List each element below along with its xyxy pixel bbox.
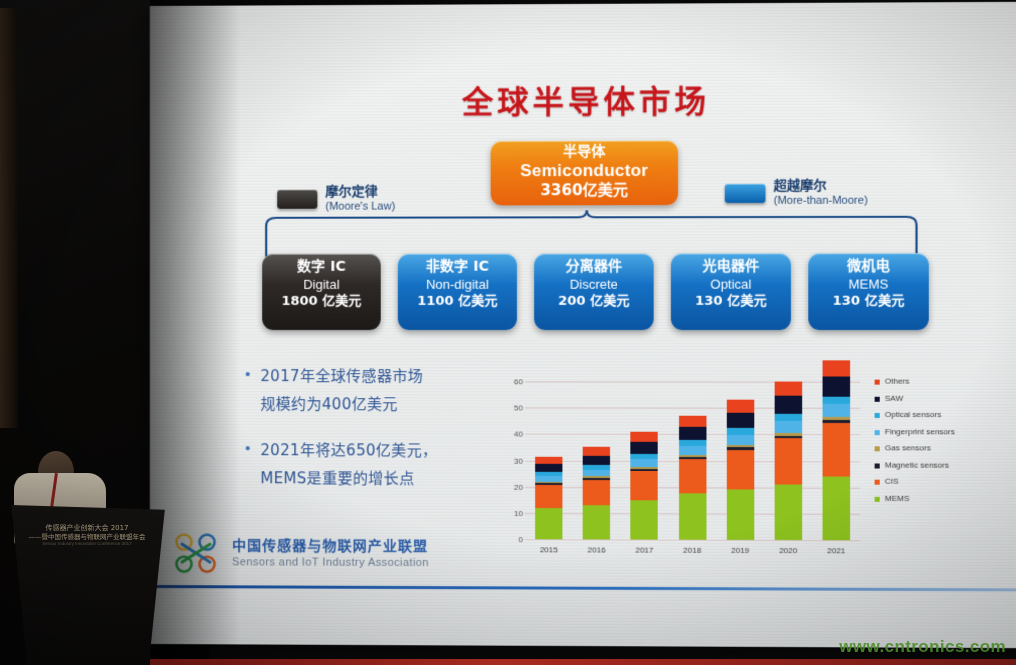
bullet-line: MEMS是重要的增长点 xyxy=(260,464,437,492)
sensor-market-chart: 0102030405060201520162017201820192020202… xyxy=(497,362,996,570)
chart-bar-segment xyxy=(535,464,562,472)
category-boxes: 数字 IC Digital 1800 亿美元 非数字 IC Non-digita… xyxy=(262,253,931,336)
category-box-digital: 数字 IC Digital 1800 亿美元 xyxy=(262,254,381,330)
wall-edge xyxy=(0,8,18,428)
legend-swatch-icon xyxy=(875,380,880,385)
chart-legend-item: CIS xyxy=(875,477,993,487)
y-axis-tick: 50 xyxy=(503,404,523,413)
legend-label: MEMS xyxy=(885,493,910,503)
slide-content: 全球半导体市场 半导体 Semiconductor 3360亿美元 摩尔定律 (… xyxy=(150,28,1016,616)
chart-bar xyxy=(774,382,802,540)
category-value: 1800 亿美元 xyxy=(262,293,381,310)
bullet-dot-icon: • xyxy=(245,436,250,492)
chart-legend-item: SAW xyxy=(875,393,993,403)
list-item: • 2021年将达650亿美元， MEMS是重要的增长点 xyxy=(245,436,507,493)
legend-label: Gas sensors xyxy=(885,443,931,453)
x-axis-label: 2017 xyxy=(624,546,665,555)
category-cn: 微机电 xyxy=(808,257,929,275)
y-axis-tick: 0 xyxy=(503,535,523,544)
category-box-optical: 光电器件 Optical 130 亿美元 xyxy=(671,253,791,330)
chart-bar-segment xyxy=(679,427,706,440)
chart-bar-segment xyxy=(535,485,562,507)
podium-line-1: 传感器产业创新大会 2017 xyxy=(22,524,152,533)
semiconductor-box-en: Semiconductor xyxy=(491,161,678,182)
category-cn: 分离器件 xyxy=(534,257,654,275)
legend-label: CIS xyxy=(885,477,899,487)
x-axis-label: 2018 xyxy=(672,546,713,555)
legend-moores-law-cn: 摩尔定律 xyxy=(325,184,395,199)
y-axis-tick: 40 xyxy=(503,430,523,439)
chart-bar-segment xyxy=(631,500,658,540)
chart-bar xyxy=(583,447,610,540)
chart-bar-segment xyxy=(679,416,706,427)
podium-line-3: Sensor Industry Innovation Conference 20… xyxy=(22,541,152,547)
category-cn: 非数字 IC xyxy=(398,258,517,276)
footer-cn: 中国传感器与物联网产业联盟 xyxy=(232,538,429,556)
category-box-discrete: 分离器件 Discrete 200 亿美元 xyxy=(534,253,654,330)
chart-legend-item: Others xyxy=(875,377,993,387)
category-value: 200 亿美元 xyxy=(534,293,654,310)
legend-label: Fingerprint sensors xyxy=(885,427,955,437)
chart-bar-segment xyxy=(631,442,658,454)
chart-bar-segment xyxy=(822,404,850,418)
swatch-moores-law-icon xyxy=(277,190,317,209)
legend-label: Optical sensors xyxy=(885,410,941,420)
semiconductor-box-cn: 半导体 xyxy=(491,144,678,162)
category-cn: 数字 IC xyxy=(262,258,381,276)
legend-more-than-moore-en: (More-than-Moore) xyxy=(774,194,868,208)
chart-bar-segment xyxy=(774,485,802,541)
chart-bar-segment xyxy=(822,376,850,396)
bullet-line: 规模约为400亿美元 xyxy=(260,390,423,418)
chart-bar-segment xyxy=(631,459,658,467)
chart-legend-item: Optical sensors xyxy=(875,410,993,420)
category-value: 130 亿美元 xyxy=(671,293,791,310)
chart-bar-segment xyxy=(679,459,706,493)
legend-label: Magnetic sensors xyxy=(885,460,949,470)
category-en: Optical xyxy=(671,276,791,293)
semiconductor-box: 半导体 Semiconductor 3360亿美元 xyxy=(491,141,678,206)
y-axis-tick: 60 xyxy=(503,377,523,386)
chart-bar-segment xyxy=(583,480,610,505)
podium-signage: 传感器产业创新大会 2017 ——暨中国传感器与物联网产业联盟年会 Sensor… xyxy=(22,524,152,547)
x-axis-label: 2020 xyxy=(768,546,809,555)
category-en: MEMS xyxy=(808,275,929,292)
bullet-line: 2017年全球传感器市场 xyxy=(260,362,423,390)
semiconductor-box-value: 3360亿美元 xyxy=(491,181,678,200)
legend-swatch-icon xyxy=(875,463,880,468)
chart-bar xyxy=(535,456,562,539)
category-box-mems: 微机电 MEMS 130 亿美元 xyxy=(808,253,929,330)
swatch-more-than-moore-icon xyxy=(725,184,766,203)
category-en: Digital xyxy=(262,276,381,293)
category-en: Non-digital xyxy=(398,276,517,293)
projection-screen: 全球半导体市场 半导体 Semiconductor 3360亿美元 摩尔定律 (… xyxy=(150,2,1016,648)
x-axis-label: 2015 xyxy=(529,545,569,554)
footer-rule xyxy=(150,585,1016,591)
chart-bar-segment xyxy=(726,435,753,446)
y-axis-tick: 10 xyxy=(503,509,523,518)
x-axis-label: 2016 xyxy=(576,545,617,554)
chart-gridline xyxy=(525,408,860,409)
chart-bar xyxy=(679,416,706,540)
chart-bar-segment xyxy=(631,471,658,500)
chart-bar-segment xyxy=(535,508,562,540)
bullet-text: 2021年将达650亿美元， MEMS是重要的增长点 xyxy=(260,436,437,493)
y-axis-tick: 20 xyxy=(503,483,523,492)
legend-more-than-moore: 超越摩尔 (More-than-Moore) xyxy=(725,178,868,208)
chart-bar xyxy=(726,400,753,540)
x-axis-label: 2019 xyxy=(720,546,761,555)
category-cn: 光电器件 xyxy=(671,257,791,275)
footer-en: Sensors and IoT Industry Association xyxy=(232,555,429,570)
speaker-area: 传感器产业创新大会 2017 ——暨中国传感器与物联网产业联盟年会 Sensor… xyxy=(0,375,200,665)
legend-swatch-icon xyxy=(875,446,880,451)
chart-plot-area: 0102030405060201520162017201820192020202… xyxy=(525,368,860,540)
x-axis-label: 2021 xyxy=(816,546,857,555)
chart-bar xyxy=(631,432,658,540)
bullet-list: • 2017年全球传感器市场 规模约为400亿美元 • 2021年将达650亿美… xyxy=(245,362,507,511)
chart-bar-segment xyxy=(631,432,658,442)
legend-swatch-icon xyxy=(875,396,880,401)
category-value: 130 亿美元 xyxy=(808,293,929,310)
chart-bar-segment xyxy=(774,396,802,415)
legend-more-than-moore-cn: 超越摩尔 xyxy=(774,178,868,193)
chart-legend-item: MEMS xyxy=(875,493,993,503)
chart-bar-segment xyxy=(726,412,753,428)
chart-bar-segment xyxy=(774,438,802,484)
bottom-red-bar xyxy=(150,659,1016,665)
chart-bar-segment xyxy=(774,414,802,421)
legend-label: Others xyxy=(885,377,910,387)
chart-bar-segment xyxy=(726,450,753,490)
chart-bar xyxy=(822,361,850,541)
category-en: Discrete xyxy=(534,276,654,293)
chart-bar-segment xyxy=(774,382,802,396)
chart-bar-segment xyxy=(679,446,706,455)
legend-swatch-icon xyxy=(875,430,880,435)
category-box-non-digital: 非数字 IC Non-digital 1100 亿美元 xyxy=(398,254,517,330)
legend-label: SAW xyxy=(885,393,903,403)
podium-line-2: ——暨中国传感器与物联网产业联盟年会 xyxy=(22,533,152,541)
chart-bar-segment xyxy=(726,490,753,540)
chart-bar-segment xyxy=(822,477,850,540)
chart-bar-segment xyxy=(535,456,562,463)
chart-bar-segment xyxy=(583,505,610,539)
legend-swatch-icon xyxy=(875,413,880,418)
footer-brand: 中国传感器与物联网产业联盟 Sensors and IoT Industry A… xyxy=(170,530,429,577)
page-title: 全球半导体市场 xyxy=(150,75,1016,123)
legend-swatch-icon xyxy=(875,480,880,485)
conference-photo: 全球半导体市场 半导体 Semiconductor 3360亿美元 摩尔定律 (… xyxy=(0,0,1016,665)
chart-legend: OthersSAWOptical sensorsFingerprint sens… xyxy=(875,377,993,511)
legend-swatch-icon xyxy=(875,496,880,501)
chart-bar-segment xyxy=(822,361,850,377)
watermark: www.cntronics.com xyxy=(839,637,1006,657)
bullet-text: 2017年全球传感器市场 规模约为400亿美元 xyxy=(260,362,423,418)
chart-gridline xyxy=(525,381,860,382)
chart-legend-item: Magnetic sensors xyxy=(875,460,993,470)
chart-bar-segment xyxy=(774,421,802,433)
brace-connector-icon xyxy=(262,209,920,258)
category-value: 1100 亿美元 xyxy=(398,293,517,310)
chart-bar-segment xyxy=(679,494,706,540)
chart-bar-segment xyxy=(822,423,850,477)
chart-bar-segment xyxy=(583,456,610,466)
chart-bar-segment xyxy=(726,400,753,412)
chart-legend-item: Fingerprint sensors xyxy=(875,427,993,437)
chart-bar-segment xyxy=(583,447,610,456)
bullet-dot-icon: • xyxy=(245,362,250,418)
y-axis-tick: 30 xyxy=(503,456,523,465)
chart-bar-segment xyxy=(822,396,850,403)
list-item: • 2017年全球传感器市场 规模约为400亿美元 xyxy=(245,362,507,418)
bullet-line: 2021年将达650亿美元， xyxy=(260,436,437,464)
chart-legend-item: Gas sensors xyxy=(875,443,993,453)
